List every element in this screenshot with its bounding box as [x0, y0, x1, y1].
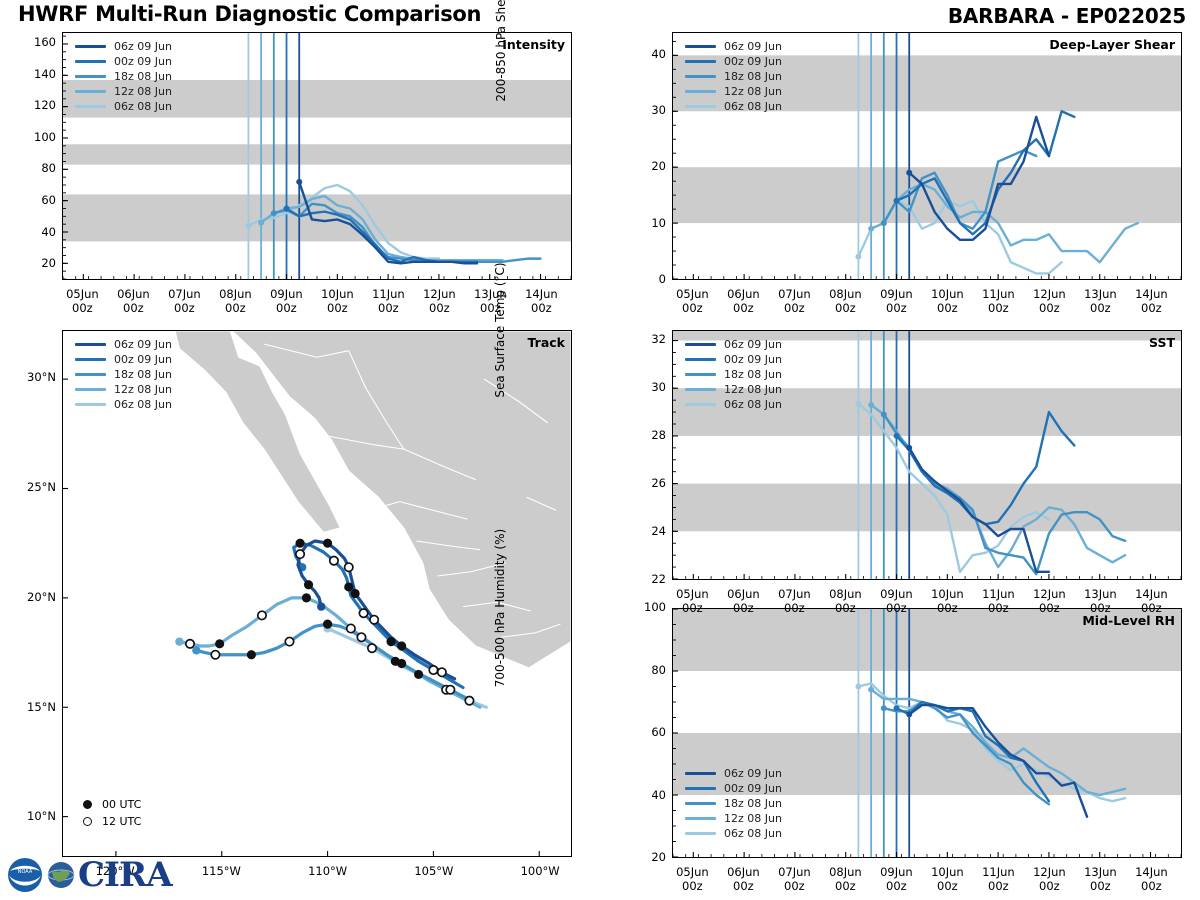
legend-swatch [75, 90, 106, 93]
legend-label: 06z 09 Jun [724, 337, 782, 352]
track-ytick: 20°N [8, 590, 56, 604]
legend-item[interactable]: 00z 09 Jun [75, 54, 172, 69]
legend-item[interactable]: 06z 09 Jun [75, 337, 172, 352]
legend-swatch [75, 105, 106, 108]
ytick-rh: 80 [626, 663, 666, 677]
legend-label: 06z 09 Jun [724, 39, 782, 54]
track-xtick: 100°W [506, 864, 574, 878]
page-title-right: BARBARA - EP022025 [948, 4, 1186, 28]
globe-icon [44, 858, 78, 892]
ytick-rh: 40 [626, 788, 666, 802]
legend-item[interactable]: 18z 08 Jun [685, 367, 782, 382]
ytick-sst: 30 [626, 380, 666, 394]
legend-label: 00z 09 Jun [724, 352, 782, 367]
legend-swatch [685, 787, 716, 790]
ylabel-sst: Sea Surface Temp (°C) [493, 205, 507, 455]
legend-swatch [75, 343, 106, 346]
xtick-intensity: 14Jun00z [507, 287, 575, 315]
legend-swatch [685, 802, 716, 805]
legend-item[interactable]: 12z 08 Jun [75, 382, 172, 397]
legend-item[interactable]: 18z 08 Jun [685, 69, 782, 84]
legend-label: 06z 08 Jun [114, 99, 172, 114]
legend-rh: 06z 09 Jun00z 09 Jun18z 08 Jun12z 08 Jun… [685, 766, 782, 841]
track-ytick: 25°N [8, 480, 56, 494]
legend-label: 06z 08 Jun [724, 826, 782, 841]
legend-item[interactable]: 06z 09 Jun [685, 766, 782, 781]
legend-label: 06z 08 Jun [724, 99, 782, 114]
ytick-rh: 100 [626, 600, 666, 614]
legend-swatch [75, 75, 106, 78]
ytick-sst: 32 [626, 332, 666, 346]
track-ytick: 10°N [8, 809, 56, 823]
cira-wordmark: CIRA [78, 858, 172, 892]
xtick-sst: 14Jun00z [1117, 587, 1185, 615]
legend-swatch [685, 358, 716, 361]
legend-label: 12z 08 Jun [114, 84, 172, 99]
legend-track: 06z 09 Jun00z 09 Jun18z 08 Jun12z 08 Jun… [75, 337, 172, 412]
legend-item[interactable]: 00z 09 Jun [685, 781, 782, 796]
legend-swatch [75, 358, 106, 361]
legend-label: 00z 09 Jun [724, 54, 782, 69]
legend-item[interactable]: 06z 08 Jun [75, 397, 172, 412]
legend-label: 18z 08 Jun [724, 367, 782, 382]
legend-label: 00z 09 Jun [114, 352, 172, 367]
ytick-shear: 10 [626, 216, 666, 230]
legend-label: 06z 08 Jun [724, 397, 782, 412]
legend-item[interactable]: 06z 08 Jun [685, 99, 782, 114]
legend-swatch [685, 343, 716, 346]
ytick-intensity: 100 [16, 130, 56, 144]
ytick-sst: 26 [626, 476, 666, 490]
ytick-shear: 20 [626, 159, 666, 173]
panel-shear: Deep-Layer Shear06z 09 Jun00z 09 Jun18z … [672, 32, 1182, 280]
panel-title-rh: Mid-Level RH [1082, 613, 1175, 628]
legend-item[interactable]: 06z 08 Jun [75, 99, 172, 114]
legend-swatch [75, 388, 106, 391]
legend-sst: 06z 09 Jun00z 09 Jun18z 08 Jun12z 08 Jun… [685, 337, 782, 412]
legend-swatch [685, 817, 716, 820]
ylabel-rh: 700-500 hPa Humidity (%) [493, 483, 507, 733]
legend-item[interactable]: 18z 08 Jun [685, 796, 782, 811]
xtick-shear: 14Jun00z [1117, 287, 1185, 315]
ytick-intensity: 80 [16, 161, 56, 175]
legend-label: 18z 08 Jun [724, 69, 782, 84]
ytick-sst: 28 [626, 428, 666, 442]
track-xtick: 110°W [294, 864, 362, 878]
ytick-rh: 60 [626, 725, 666, 739]
legend-item[interactable]: 00z 09 Jun [75, 352, 172, 367]
legend-item[interactable]: 12z 08 Jun [685, 382, 782, 397]
ytick-shear: 0 [626, 272, 666, 286]
legend-label: 12z 08 Jun [724, 811, 782, 826]
legend-label: 12z 08 Jun [724, 84, 782, 99]
legend-swatch [685, 60, 716, 63]
ylabel-shear: 200-850 hPa Shear (kt) [494, 0, 508, 156]
ytick-intensity: 60 [16, 193, 56, 207]
ytick-shear: 30 [626, 103, 666, 117]
panel-title-shear: Deep-Layer Shear [1049, 37, 1175, 52]
track-ytick: 30°N [8, 370, 56, 384]
ytick-intensity: 40 [16, 225, 56, 239]
track-marker-legend: 00 UTC12 UTC [77, 796, 141, 830]
legend-swatch [75, 373, 106, 376]
legend-label: 12z 08 Jun [114, 382, 172, 397]
panel-title-track: Track [528, 335, 565, 350]
panel-title-intensity: Intensity [502, 37, 565, 52]
legend-label: 06z 09 Jun [724, 766, 782, 781]
legend-item[interactable]: 00z 09 Jun [685, 352, 782, 367]
legend-item[interactable]: 12z 08 Jun [685, 811, 782, 826]
legend-swatch [685, 772, 716, 775]
filled-marker-icon [83, 800, 92, 809]
noaa-icon: NOAA [4, 855, 46, 895]
ytick-sst: 22 [626, 572, 666, 586]
track-xtick: 115°W [187, 864, 255, 878]
open-marker-icon [83, 817, 92, 826]
legend-swatch [685, 403, 716, 406]
marker-legend-label: 00 UTC [102, 798, 141, 811]
legend-item[interactable]: 06z 08 Jun [685, 826, 782, 841]
legend-label: 06z 09 Jun [114, 337, 172, 352]
legend-swatch [75, 403, 106, 406]
legend-label: 18z 08 Jun [114, 367, 172, 382]
panel-rh: Mid-Level RH06z 09 Jun00z 09 Jun18z 08 J… [672, 608, 1182, 858]
ytick-intensity: 160 [16, 35, 56, 49]
legend-swatch [685, 90, 716, 93]
legend-label: 00z 09 Jun [724, 781, 782, 796]
legend-label: 00z 09 Jun [114, 54, 172, 69]
legend-label: 12z 08 Jun [724, 382, 782, 397]
ytick-sst: 24 [626, 524, 666, 538]
ytick-rh: 20 [626, 850, 666, 864]
legend-label: 18z 08 Jun [114, 69, 172, 84]
marker-legend-item: 12 UTC [77, 813, 141, 830]
legend-swatch [685, 373, 716, 376]
legend-swatch [75, 60, 106, 63]
legend-intensity: 06z 09 Jun00z 09 Jun18z 08 Jun12z 08 Jun… [75, 39, 172, 114]
svg-text:NOAA: NOAA [18, 869, 33, 875]
ytick-intensity: 120 [16, 98, 56, 112]
cira-noaa-logo: NOAA CIRA [4, 852, 172, 898]
legend-label: 18z 08 Jun [724, 796, 782, 811]
ytick-shear: 40 [626, 47, 666, 61]
xtick-rh: 14Jun00z [1117, 865, 1185, 893]
legend-swatch [685, 832, 716, 835]
track-ytick: 15°N [8, 700, 56, 714]
panel-sst: SST06z 09 Jun00z 09 Jun18z 08 Jun12z 08 … [672, 330, 1182, 580]
page-title-left: HWRF Multi-Run Diagnostic Comparison [18, 2, 481, 26]
legend-item[interactable]: 06z 09 Jun [685, 39, 782, 54]
legend-item[interactable]: 06z 08 Jun [685, 397, 782, 412]
legend-swatch [75, 45, 106, 48]
legend-swatch [685, 388, 716, 391]
legend-label: 06z 08 Jun [114, 397, 172, 412]
marker-legend-item: 00 UTC [77, 796, 141, 813]
legend-swatch [685, 105, 716, 108]
legend-item[interactable]: 00z 09 Jun [685, 54, 782, 69]
legend-item[interactable]: 06z 09 Jun [685, 337, 782, 352]
panel-title-sst: SST [1149, 335, 1175, 350]
legend-item[interactable]: 12z 08 Jun [685, 84, 782, 99]
legend-swatch [685, 75, 716, 78]
legend-item[interactable]: 12z 08 Jun [75, 84, 172, 99]
track-xtick: 105°W [400, 864, 468, 878]
legend-item[interactable]: 06z 09 Jun [75, 39, 172, 54]
legend-item[interactable]: 18z 08 Jun [75, 367, 172, 382]
marker-legend-label: 12 UTC [102, 815, 141, 828]
ytick-intensity: 140 [16, 67, 56, 81]
legend-label: 06z 09 Jun [114, 39, 172, 54]
legend-swatch [685, 45, 716, 48]
legend-item[interactable]: 18z 08 Jun [75, 69, 172, 84]
ytick-intensity: 20 [16, 256, 56, 270]
legend-shear: 06z 09 Jun00z 09 Jun18z 08 Jun12z 08 Jun… [685, 39, 782, 114]
